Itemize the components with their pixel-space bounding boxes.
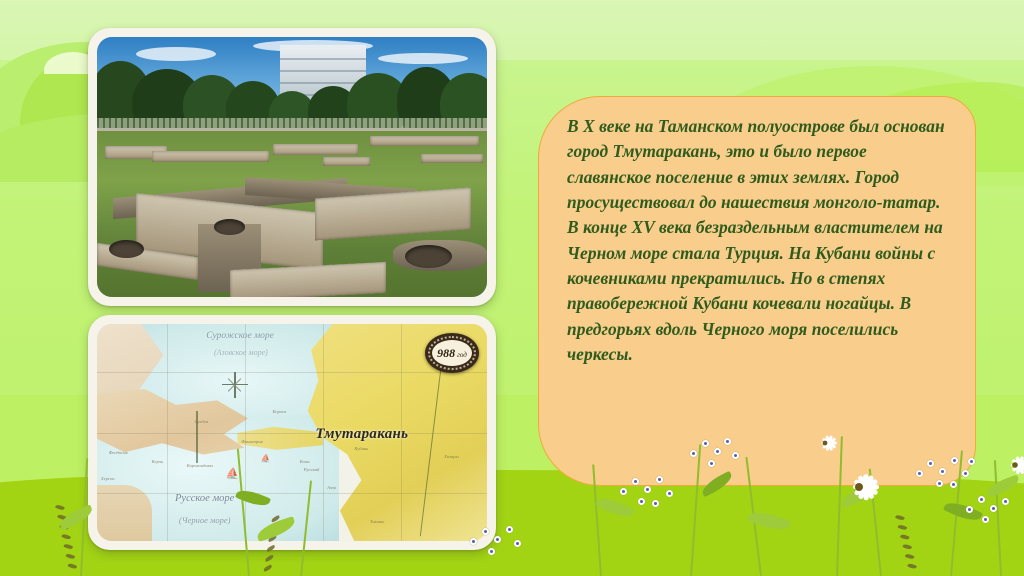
map-small-place: Копа	[300, 459, 310, 464]
map-small-place: Русский	[304, 467, 320, 472]
map-small-place: Корокондама	[187, 463, 213, 468]
ruins-photograph	[97, 37, 487, 297]
map-small-place: Сугдея	[195, 419, 208, 424]
map-label-azov-new: (Азовское море)	[214, 348, 268, 357]
historical-map-image: ⛵ ⛵ Сурожское море (Азовское море) Русск…	[97, 324, 487, 541]
map-label-tmutarakan: Тмутаракань	[315, 426, 408, 443]
map-small-place: Корчев	[273, 409, 287, 414]
map-small-place: Фанагория	[241, 439, 262, 444]
map-small-place: Херсон	[101, 476, 115, 481]
paragraph-1: В X веке на Таманском полуострове был ос…	[567, 114, 951, 215]
compass-rose-icon	[222, 372, 248, 398]
map-small-place: Феодосия	[109, 450, 128, 455]
map-label-black-old: Русское море	[175, 493, 234, 504]
map-small-place: Тамань	[370, 519, 384, 524]
map-label-azov-old: Сурожское море	[206, 331, 274, 341]
map-small-place: Хазары	[444, 454, 459, 459]
map-small-place: Азов	[327, 485, 336, 490]
map-small-place: Керчь	[152, 459, 164, 464]
medallion-center: 988год	[432, 340, 472, 366]
map-label-black-new: (Черное море)	[179, 515, 231, 525]
medallion-year: 988	[437, 346, 455, 360]
photo-frame-ruins[interactable]	[88, 28, 496, 306]
photo-frame-map[interactable]: ⛵ ⛵ Сурожское море (Азовское море) Русск…	[88, 315, 496, 550]
sailing-ship-icon: ⛵	[226, 467, 240, 480]
sailing-ship-icon: ⛵	[261, 454, 271, 463]
slide-canvas: ⛵ ⛵ Сурожское море (Азовское море) Русск…	[0, 0, 1024, 576]
text-panel-callout: В X веке на Таманском полуострове был ос…	[538, 96, 976, 486]
map-small-place: Кубань	[354, 446, 368, 451]
paragraph-2: В конце XV века безраздельным властителе…	[567, 215, 951, 367]
medallion-unit: год	[457, 351, 467, 359]
year-medallion-badge: 988год	[425, 333, 479, 373]
